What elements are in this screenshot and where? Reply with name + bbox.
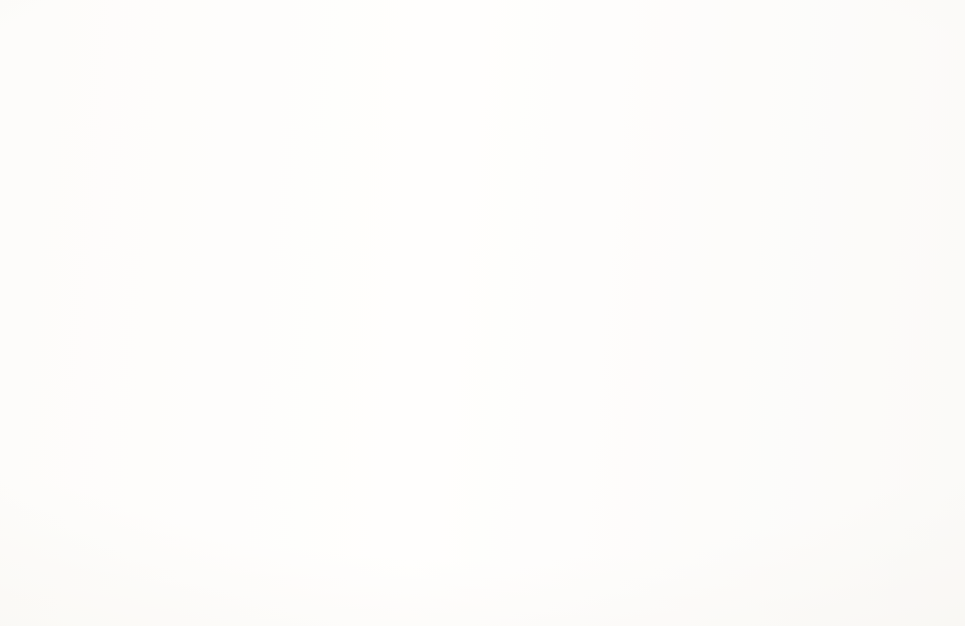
team-brainstorming-illustration xyxy=(14,296,398,616)
star-icon: ★ xyxy=(632,19,644,32)
body-text-column: O obxectivo principal destas axudas é o … xyxy=(408,283,936,612)
poster-canvas: INSTITUTO GALEGO DE PROMOCIÓN ECONÓMICA … xyxy=(0,0,965,626)
fondos-europeos-staircase-icon: ★ ★ ★ xyxy=(620,8,698,74)
paragraph-expected-result: O resultado que se pretende acadar é a p… xyxy=(408,432,936,612)
page-title: Axudas a servizos modulares de asesorame… xyxy=(44,128,922,269)
logo-strip: INSTITUTO GALEGO DE PROMOCIÓN ECONÓMICA … xyxy=(0,0,965,88)
logo-igape: INSTITUTO GALEGO DE PROMOCIÓN ECONÓMICA xyxy=(63,13,258,68)
logo-eu-label: Cofinanciado pola Unión Europea xyxy=(416,24,550,62)
eu-line-1: Cofinanciado pola xyxy=(416,25,550,42)
logo-fondos-europeos: ★ ★ ★ Fondos Europeos xyxy=(620,8,934,74)
logo-divider xyxy=(114,18,117,64)
xunta-de-galicia-coat-of-arms-icon xyxy=(63,13,104,68)
logo-igape-label: INSTITUTO GALEGO DE PROMOCIÓN ECONÓMICA xyxy=(128,18,258,63)
igape-line-2: DE PROMOCIÓN xyxy=(128,33,232,47)
eu-flag-icon xyxy=(328,17,402,68)
igape-line-3: ECONÓMICA xyxy=(128,48,209,62)
title-line-3: entidades colaboradoras xyxy=(44,222,922,269)
title-line-2: especializado a empresas galegas prestad… xyxy=(44,175,922,222)
star-icon: ★ xyxy=(646,15,658,28)
paragraph-objective: O obxectivo principal destas axudas é o … xyxy=(408,283,936,403)
star-icon: ★ xyxy=(621,31,634,45)
title-line-1: Axudas a servizos modulares de asesorame… xyxy=(44,128,922,175)
logo-european-union: Cofinanciado pola Unión Europea xyxy=(328,17,550,68)
logo-fondos-label: Fondos Europeos xyxy=(708,25,934,58)
eu-line-2: Unión Europea xyxy=(416,44,526,61)
igape-line-1: INSTITUTO GALEGO xyxy=(128,18,258,32)
